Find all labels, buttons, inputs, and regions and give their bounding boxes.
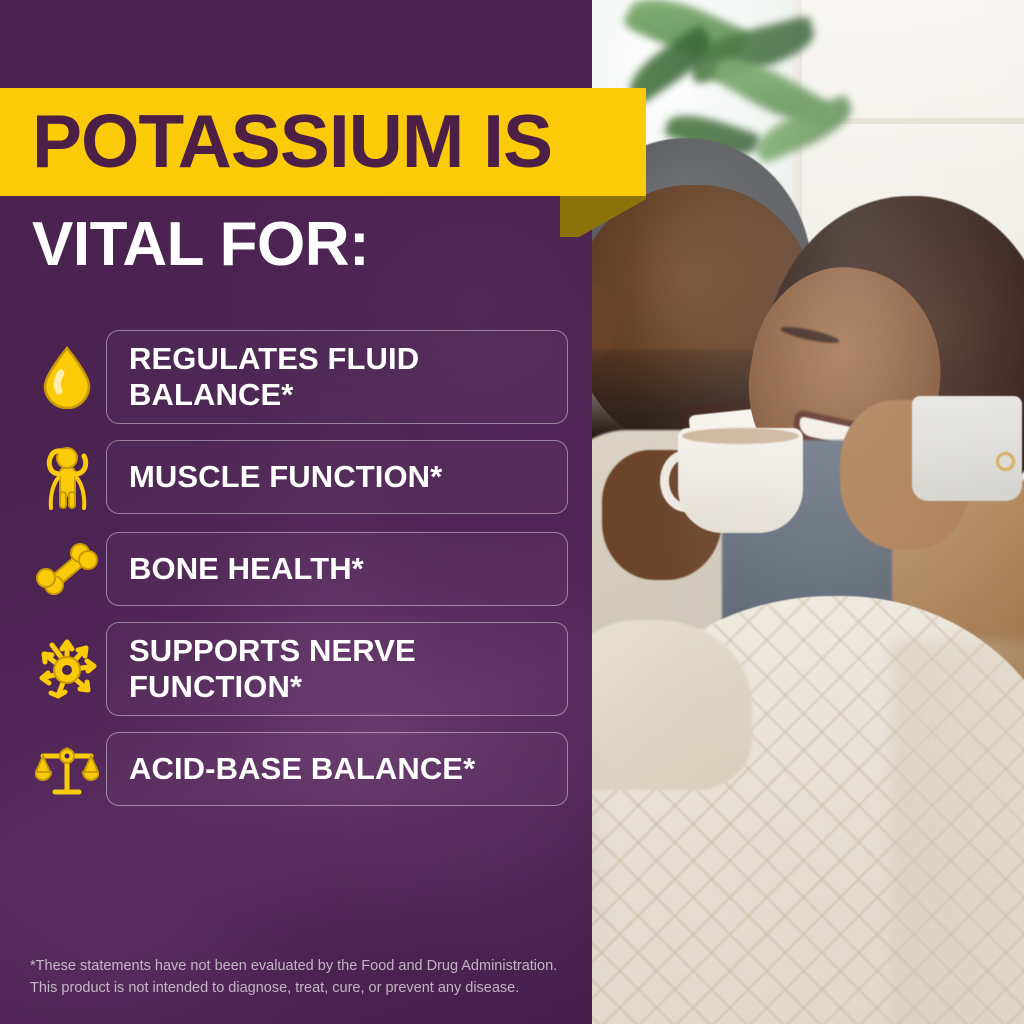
headline-subhead: VITAL FOR: xyxy=(32,214,369,276)
couple-photo xyxy=(592,0,1024,1024)
benefit-pill: ACID-BASE BALANCE* xyxy=(106,732,568,806)
benefit-row: REGULATES FLUID BALANCE* xyxy=(28,330,568,424)
benefit-row: MUSCLE FUNCTION* xyxy=(28,438,568,516)
water-droplet-icon xyxy=(28,338,106,416)
benefit-label: REGULATES FLUID BALANCE* xyxy=(129,341,545,413)
benefit-pill: MUSCLE FUNCTION* xyxy=(106,440,568,514)
disclaimer-footnote: *These statements have not been evaluate… xyxy=(30,956,575,1000)
benefit-label: ACID-BASE BALANCE* xyxy=(129,751,475,787)
bone-icon xyxy=(28,530,106,608)
headline-banner: POTASSIUM IS xyxy=(0,88,646,196)
photo-mug-left-rim xyxy=(682,428,799,444)
benefit-pill: SUPPORTS NERVE FUNCTION* xyxy=(106,622,568,716)
benefit-row: SUPPORTS NERVE FUNCTION* xyxy=(28,622,568,716)
benefit-list: REGULATES FLUID BALANCE* xyxy=(28,330,568,822)
benefit-label: BONE HEALTH* xyxy=(129,551,364,587)
disclaimer-line-2: This product is not intended to diagnose… xyxy=(30,978,575,1000)
balance-scale-icon xyxy=(28,730,106,808)
photo-mug-right xyxy=(912,396,1022,501)
benefit-label: SUPPORTS NERVE FUNCTION* xyxy=(129,633,545,705)
flexing-person-icon xyxy=(28,438,106,516)
headline-banner-text: POTASSIUM IS xyxy=(32,106,552,177)
benefit-row: ACID-BASE BALANCE* xyxy=(28,730,568,808)
photo-blanket-shadow xyxy=(892,640,1024,1024)
benefit-label: MUSCLE FUNCTION* xyxy=(129,459,442,495)
neuron-icon xyxy=(28,630,106,708)
benefit-row: BONE HEALTH* xyxy=(28,530,568,608)
benefit-pill: BONE HEALTH* xyxy=(106,532,568,606)
disclaimer-line-1: *These statements have not been evaluate… xyxy=(30,956,575,978)
photo-wedding-ring xyxy=(996,452,1015,471)
potassium-benefits-poster: POTASSIUM IS VITAL FOR: REGULATES FLUID … xyxy=(0,0,1024,1024)
benefit-pill: REGULATES FLUID BALANCE* xyxy=(106,330,568,424)
